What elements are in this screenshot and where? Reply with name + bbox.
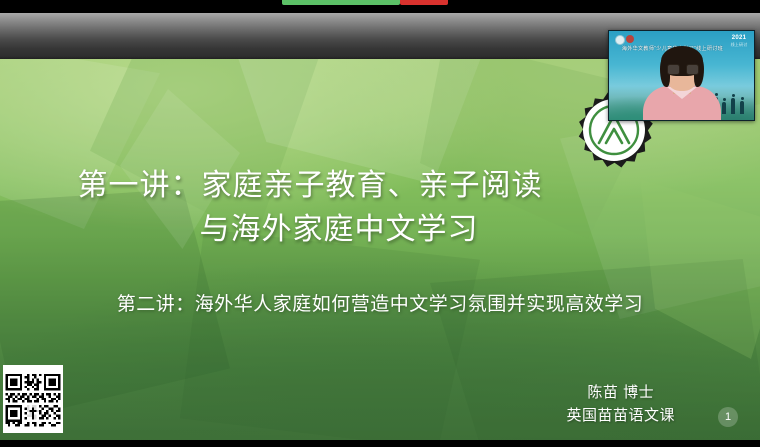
progress-red-segment bbox=[400, 0, 448, 5]
slide-title-line-1: 第一讲：家庭亲子教育、亲子阅读 bbox=[0, 164, 620, 208]
video-year-label: 2021 bbox=[729, 34, 749, 42]
slide-title-line-2: 与海外家庭中文学习 bbox=[0, 208, 620, 252]
speaker-credit: 陈苗 博士 英国苗苗语文课 bbox=[566, 381, 675, 427]
slide-number-badge: 1 bbox=[718, 407, 738, 427]
speaker-name: 陈苗 博士 bbox=[566, 381, 675, 404]
screen-share-view: 第一讲：家庭亲子教育、亲子阅读 与海外家庭中文学习 第二讲：海外华人家庭如何营造… bbox=[0, 0, 760, 447]
video-logo-right-icon bbox=[626, 35, 634, 43]
bottom-black-bar bbox=[0, 440, 760, 447]
video-logo-left-icon bbox=[615, 35, 625, 45]
participant-video-tile[interactable]: 2021 线上研讨 海外华文教师“少儿童华文学习”线上研讨班 bbox=[608, 30, 755, 121]
qr-code[interactable] bbox=[3, 365, 63, 433]
person-glasses-icon bbox=[667, 64, 697, 73]
loading-progress-bar bbox=[282, 0, 448, 5]
progress-green-segment bbox=[282, 0, 400, 5]
slide-subtitle: 第二讲：海外华人家庭如何营造中文学习氛围并实现高效学习 bbox=[0, 292, 760, 318]
top-black-strip bbox=[0, 5, 760, 13]
background-facet bbox=[180, 229, 480, 440]
slide-title: 第一讲：家庭亲子教育、亲子阅读 与海外家庭中文学习 bbox=[0, 164, 620, 252]
speaker-organization: 英国苗苗语文课 bbox=[566, 404, 675, 427]
background-facet bbox=[640, 179, 760, 359]
video-year-sublabel: 线上研讨 bbox=[729, 42, 749, 47]
